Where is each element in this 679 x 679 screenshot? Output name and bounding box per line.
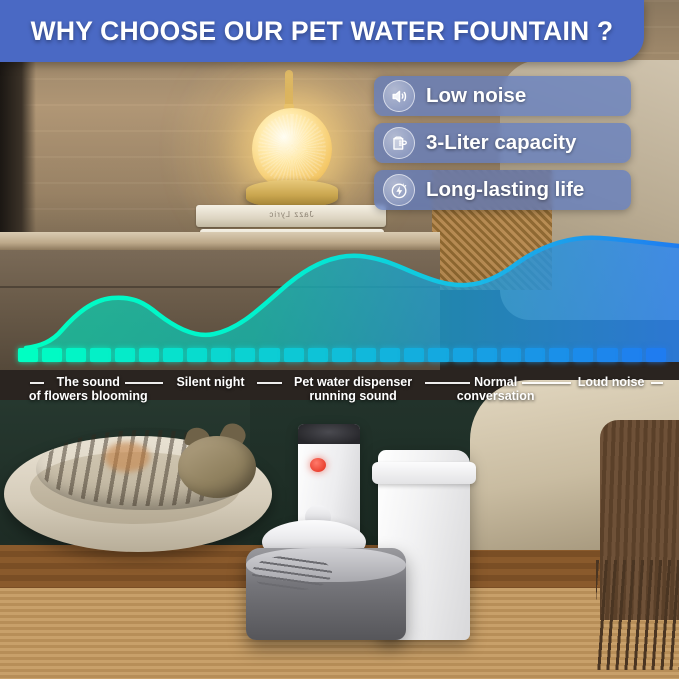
fountain-indicator-light: [310, 458, 326, 472]
page-title: WHY CHOOSE OUR PET WATER FOUNTAIN ?: [31, 16, 614, 47]
noise-dash-segment: [646, 348, 666, 362]
feature-badge-capacity[interactable]: 3-Liter capacity: [374, 123, 631, 163]
fountain-tower-top: [298, 424, 360, 444]
noise-dash-segment: [211, 348, 231, 362]
noise-dash-segment: [356, 348, 376, 362]
infographic-stage: Jazz Lyric Albert Marcu: [0, 0, 679, 679]
noise-dash-segment: [501, 348, 521, 362]
noise-dash-segment: [115, 348, 135, 362]
noise-dash-segment: [622, 348, 642, 362]
speaker-icon: [383, 80, 415, 112]
cat-fur-patch: [104, 442, 150, 472]
noise-dash-segment: [308, 348, 328, 362]
noise-dash-segment: [453, 348, 473, 362]
noise-dash-segment: [597, 348, 617, 362]
noise-scale-connector: [257, 382, 281, 384]
noise-dash-segment: [380, 348, 400, 362]
book-title-top: Jazz Lyric: [196, 210, 386, 219]
noise-dash-segment: [187, 348, 207, 362]
feature-label: Low noise: [426, 84, 526, 108]
noise-dash-segment: [18, 348, 38, 362]
noise-dash-segment: [66, 348, 86, 362]
pitcher-icon: [383, 127, 415, 159]
noise-dash-segment: [428, 348, 448, 362]
cat-head: [178, 436, 256, 498]
lightning-icon: [383, 174, 415, 206]
noise-scale-connector: [522, 382, 571, 384]
noise-scale-connector: [125, 382, 164, 384]
noise-scale-labels: The sound of flowers bloomingSilent nigh…: [0, 375, 679, 411]
noise-dash-segment: [42, 348, 62, 362]
book-top: Jazz Lyric: [196, 205, 386, 227]
feature-badge-longlife[interactable]: Long-lasting life: [374, 170, 631, 210]
noise-dash-segment: [332, 348, 352, 362]
feature-label: Long-lasting life: [426, 178, 584, 202]
noise-dash-segment: [525, 348, 545, 362]
noise-dash-segment: [573, 348, 593, 362]
noise-scale-connector: [425, 382, 470, 384]
noise-dash-segment: [259, 348, 279, 362]
noise-dash-segment: [549, 348, 569, 362]
noise-dash-segment: [477, 348, 497, 362]
noise-scale-dash-bar: [18, 348, 666, 362]
noise-dash-segment: [163, 348, 183, 362]
fountain-base-grill: [252, 556, 332, 590]
noise-dash-segment: [235, 348, 255, 362]
noise-scale-connector: [651, 382, 663, 384]
feature-badge-low-noise[interactable]: Low noise: [374, 76, 631, 116]
title-banner: WHY CHOOSE OUR PET WATER FOUNTAIN ?: [0, 0, 644, 62]
noise-dash-segment: [404, 348, 424, 362]
noise-dash-segment: [90, 348, 110, 362]
fountain-tank-lid: [372, 462, 476, 484]
lamp-globe: [252, 108, 332, 190]
noise-dash-segment: [139, 348, 159, 362]
blanket-fringe: [596, 560, 679, 670]
feature-badge-list: Low noise 3-Liter capacity: [374, 76, 679, 210]
lamp-base: [246, 180, 338, 208]
noise-dash-segment: [284, 348, 304, 362]
feature-label: 3-Liter capacity: [426, 131, 576, 155]
noise-scale-connector: [30, 382, 44, 384]
